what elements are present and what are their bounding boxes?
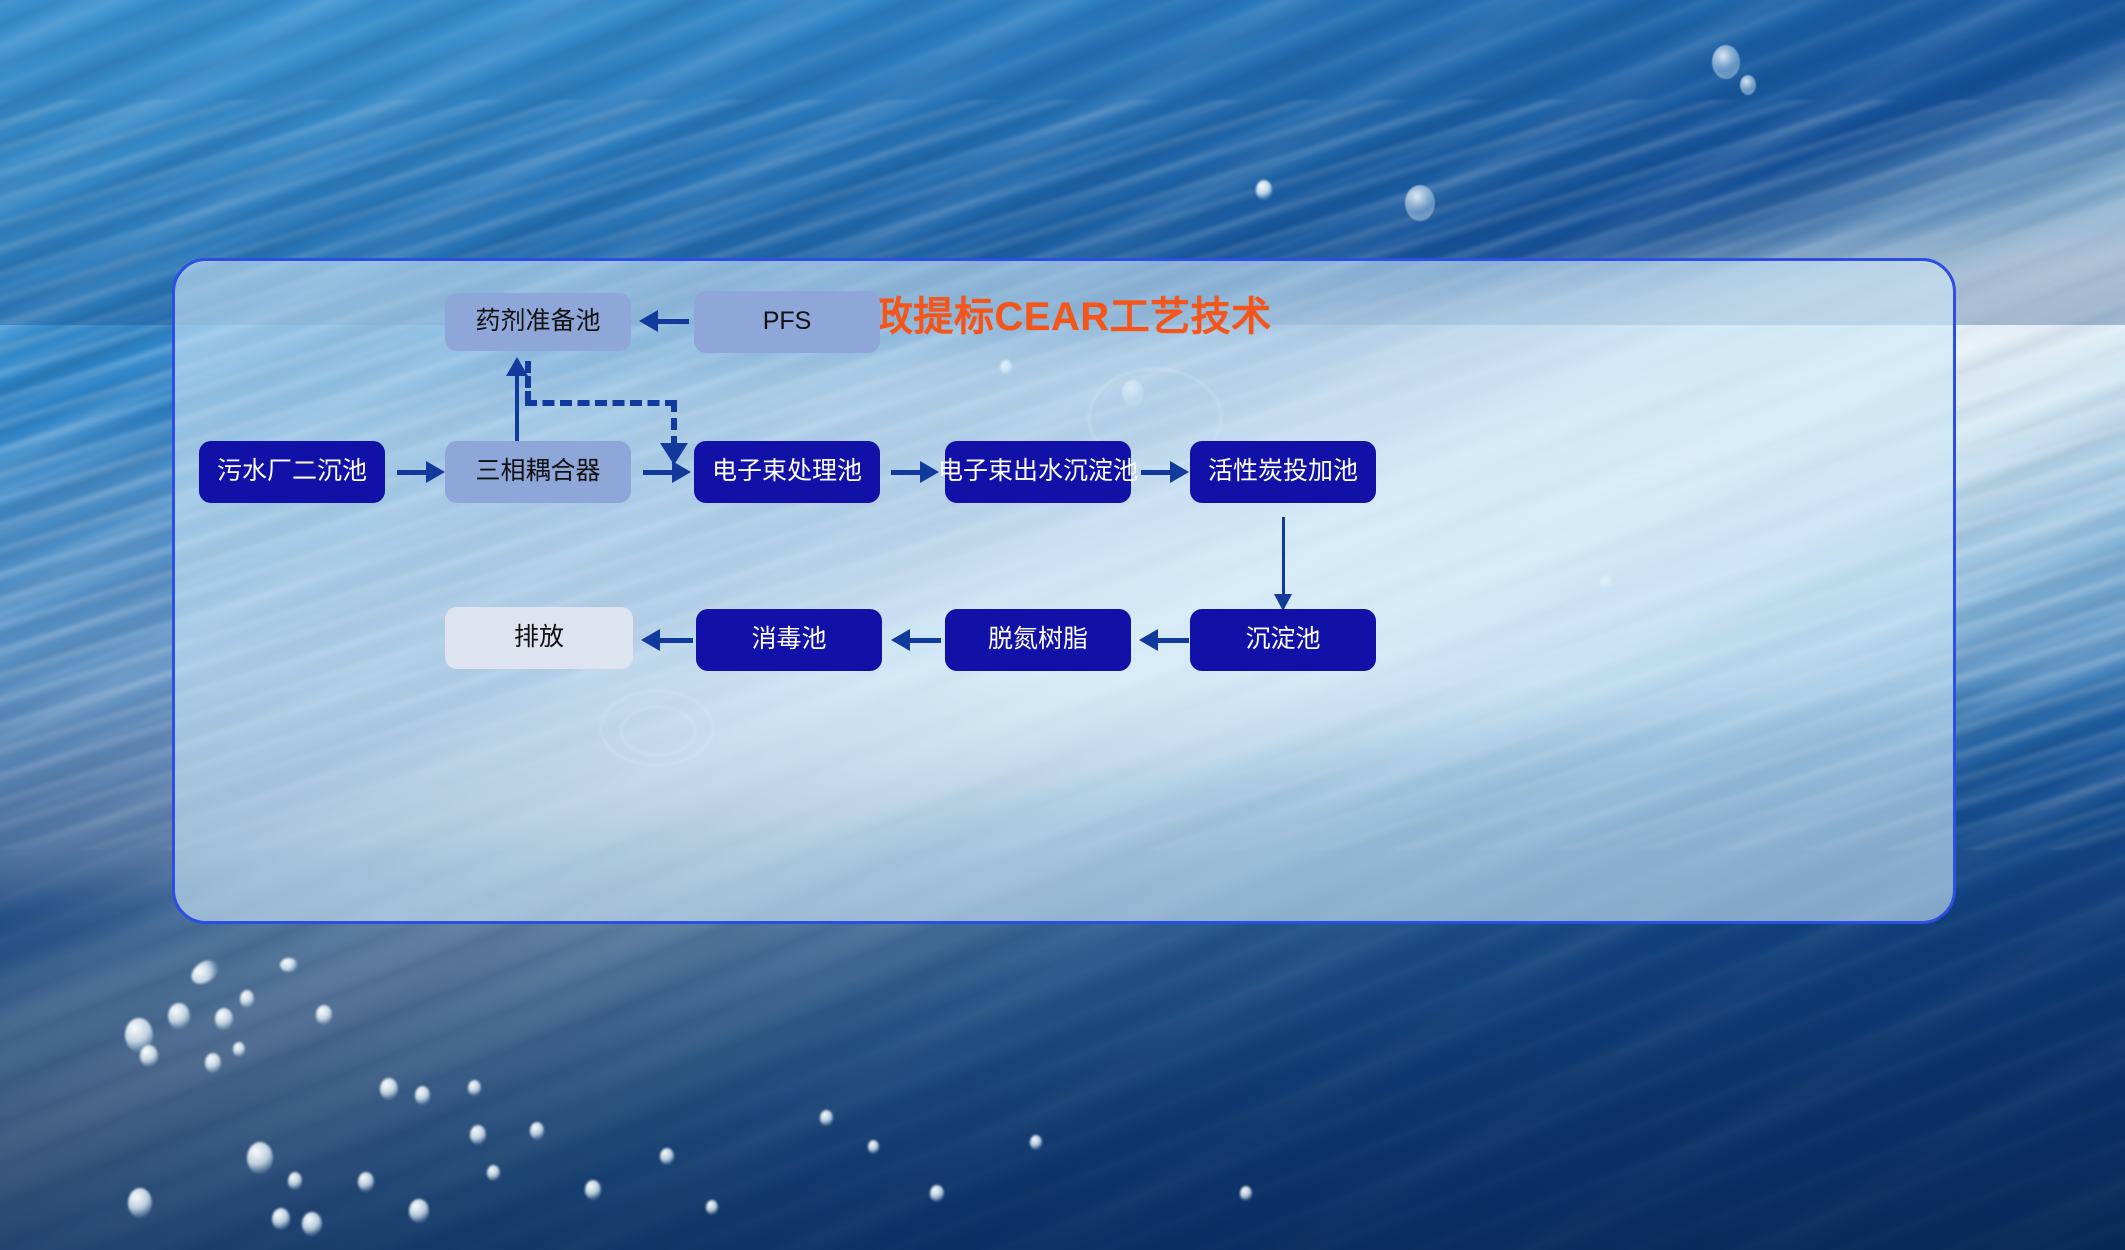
node-ebeam-treatment[interactable]: 电子束处理池: [694, 441, 880, 503]
node-disinfection[interactable]: 消毒池: [696, 609, 882, 671]
node-activated-carbon[interactable]: 活性炭投加池: [1190, 441, 1376, 503]
recycle-dashed-segment-vertical-left: [525, 361, 531, 403]
node-sedimentation[interactable]: 沉淀池: [1190, 609, 1376, 671]
arrow-sedimentation-to-denitrification: [1139, 625, 1189, 655]
arrow-ebeam-to-sedimentation: [891, 457, 939, 487]
node-three-phase-coupler[interactable]: 三相耦合器: [445, 441, 631, 503]
node-wwtp-secondary[interactable]: 污水厂二沉池: [199, 441, 385, 503]
arrow-pfs-to-reagent-tank: [639, 306, 689, 336]
water-droplet-icon: [1740, 75, 1756, 95]
node-pfs[interactable]: PFS: [694, 291, 880, 353]
arrow-disinfection-to-discharge: [641, 625, 693, 655]
arrow-carbon-to-sedimentation: [1268, 517, 1298, 611]
node-denitrification[interactable]: 脱氮树脂: [945, 609, 1131, 671]
recycle-arrowhead-icon: [660, 443, 688, 465]
water-droplet-icon: [1712, 45, 1740, 79]
recycle-dashed-segment-horizontal: [525, 400, 677, 406]
arrow-sedimentation-to-carbon: [1141, 457, 1189, 487]
node-reagent-tank[interactable]: 药剂准备池: [445, 293, 631, 351]
slide-canvas: 市政提标CEAR工艺技术 药剂准备池 PFS 污水厂二沉池 三相耦合器 电子束处…: [0, 0, 2125, 1250]
node-ebeam-sedimentation[interactable]: 电子束出水沉淀池: [945, 441, 1131, 503]
node-discharge[interactable]: 排放: [445, 607, 633, 669]
diagram-panel: 市政提标CEAR工艺技术 药剂准备池 PFS 污水厂二沉池 三相耦合器 电子束处…: [172, 258, 1956, 924]
page-title: 市政提标CEAR工艺技术: [175, 284, 1953, 342]
page-title-text: 市政提标CEAR工艺技术: [832, 284, 1271, 342]
recycle-dashed-segment-vertical-right: [671, 400, 677, 448]
water-droplet-icon: [1405, 185, 1435, 221]
arrow-denitrification-to-disinfection: [891, 625, 941, 655]
arrow-wwtp-to-coupler: [397, 457, 445, 487]
